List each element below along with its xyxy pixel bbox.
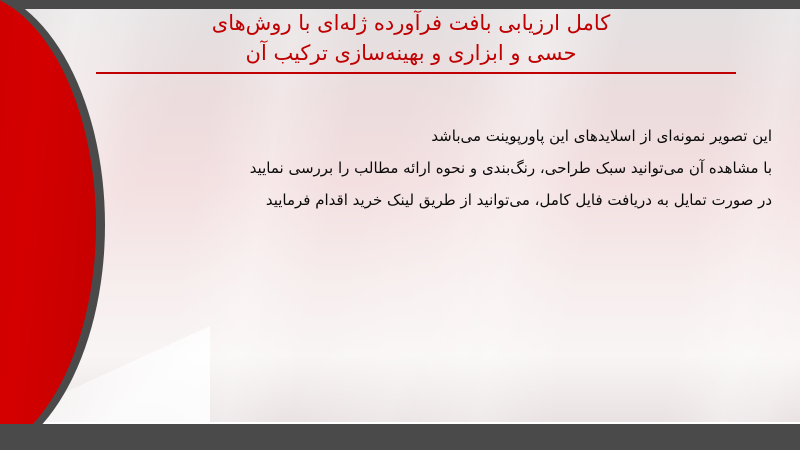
slide-title-line-2: حسی و ابزاری و بهینه‌سازی ترکیب آن (46, 38, 776, 68)
body-line-1: این تصویر نمونه‌ای از اسلایدهای این پاور… (72, 120, 772, 152)
slide-body-text: این تصویر نمونه‌ای از اسلایدهای این پاور… (72, 120, 772, 216)
slide-title-line-1: کامل ارزیابی بافت فرآورده ژله‌ای با روش‌… (46, 8, 776, 38)
body-line-3: در صورت تمایل به دریافت فایل کامل، می‌تو… (72, 184, 772, 216)
presentation-slide: کامل ارزیابی بافت فرآورده ژله‌ای با روش‌… (0, 0, 800, 450)
title-underline-rule (96, 72, 736, 74)
body-line-2: با مشاهده آن می‌توانید سبک طراحی، رنگ‌بن… (72, 152, 772, 184)
slide-title: کامل ارزیابی بافت فرآورده ژله‌ای با روش‌… (46, 8, 776, 68)
background-corner-wedge (0, 262, 210, 422)
slide-bottom-bar (0, 424, 800, 450)
